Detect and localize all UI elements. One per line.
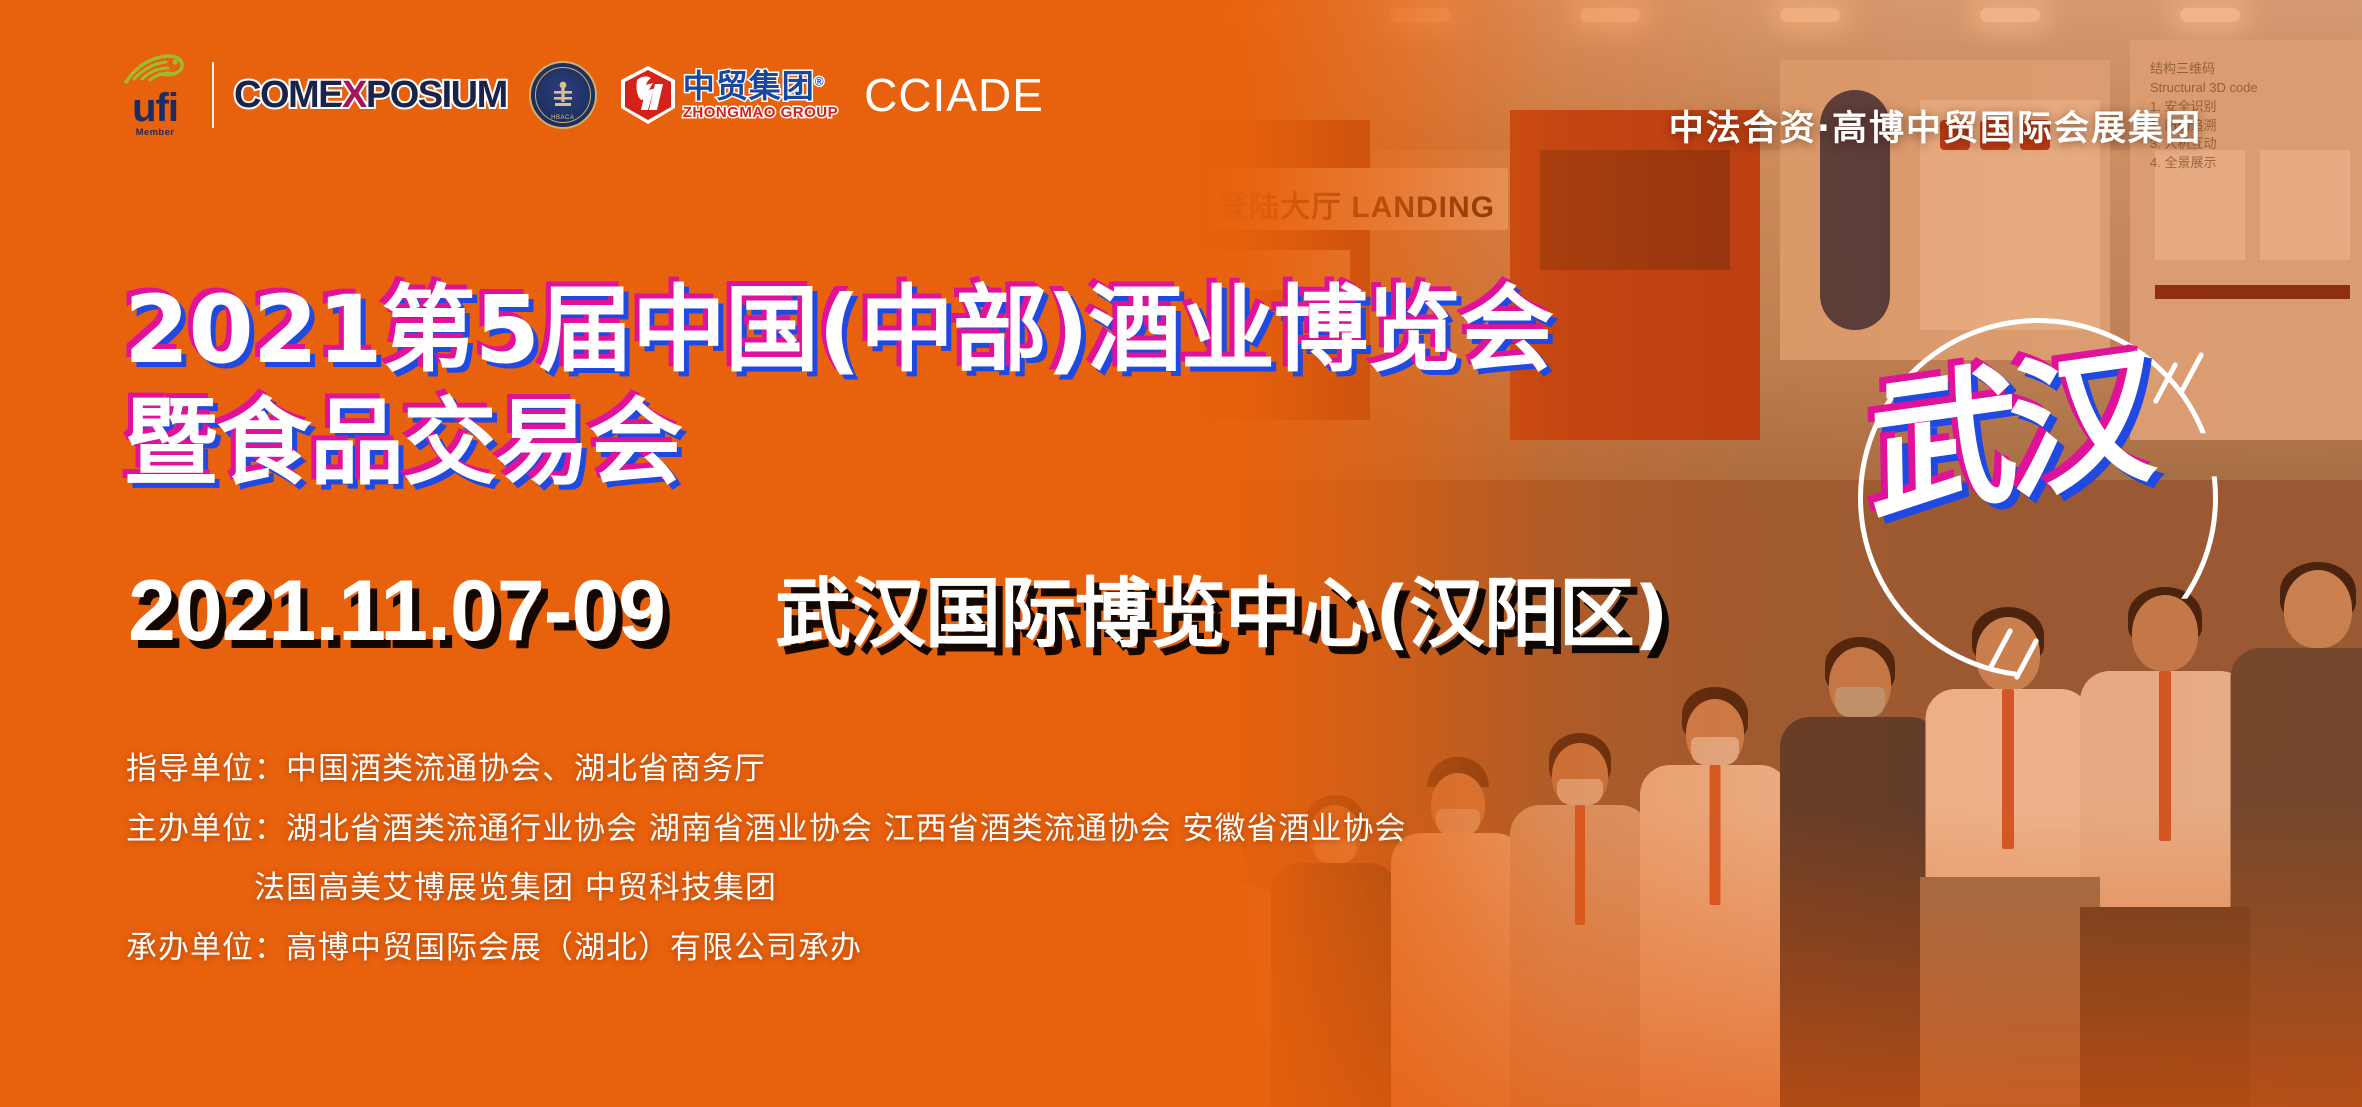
- sponsor-logo-bar: ufi Member COMEXPOSIUM HBACA: [118, 52, 1044, 138]
- event-venue: 武汉国际博览中心(汉阳区): [775, 552, 1667, 662]
- cciade-logo: CCIADE: [864, 68, 1044, 122]
- seal-tick-mark: [2013, 638, 2039, 681]
- host-unit-line-1: 主办单位：湖北省酒类流通行业协会 湖南省酒业协会 江西省酒类流通协会 安徽省酒业…: [126, 800, 1407, 860]
- event-date-venue-row: 2021.11.07-09 武汉国际博览中心(汉阳区): [128, 552, 1667, 662]
- zhongmao-logo: 中贸集团® ZHONGMAO GROUP: [617, 64, 838, 126]
- zhongmao-text: 中贸集团® ZHONGMAO GROUP: [683, 70, 838, 121]
- comexposium-logo: COMEXPOSIUM: [234, 74, 507, 117]
- event-title: 2021第5届中国(中部)酒业博览会 暨食品交易会: [124, 276, 1553, 498]
- zhongmao-name-en: ZHONGMAO GROUP: [683, 104, 838, 121]
- zhongmao-horse-icon: [617, 64, 679, 126]
- comexposium-x: X: [342, 74, 366, 116]
- event-banner: 登陆大厅 LANDING 结构三维码Structural 3D code1. 安…: [0, 0, 2362, 1107]
- guidance-unit-line: 指导单位：中国酒类流通协会、湖北省商务厅: [126, 740, 1407, 800]
- undertaker-unit-line: 承办单位：高博中贸国际会展（湖北）有限公司承办: [126, 919, 1407, 979]
- event-date: 2021.11.07-09: [128, 562, 665, 661]
- hbaca-abbrev: HBACA: [531, 115, 595, 121]
- comexposium-part-3: POSIUM: [366, 74, 507, 116]
- event-title-line-2: 暨食品交易会: [124, 389, 1553, 498]
- company-tagline: 中法合资·高博中贸国际会展集团: [1669, 100, 2202, 151]
- logo-divider: [212, 62, 214, 128]
- zhongmao-name-cn: 中贸集团®: [683, 70, 838, 102]
- ufi-logo: ufi Member: [118, 52, 192, 138]
- host-unit-line-2: 法国高美艾博展览集团 中贸科技集团: [126, 859, 1407, 919]
- hbaca-emblem-icon: [550, 79, 576, 111]
- ufi-member-label: Member: [136, 127, 175, 138]
- ufi-bird-icon: [124, 52, 186, 86]
- wuhan-seal: 武汉: [1858, 318, 2218, 678]
- ufi-wordmark: ufi: [132, 90, 178, 126]
- event-title-line-1: 2021第5届中国(中部)酒业博览会: [124, 276, 1553, 385]
- registered-mark: ®: [815, 74, 825, 88]
- organizer-block: 指导单位：中国酒类流通协会、湖北省商务厅 主办单位：湖北省酒类流通行业协会 湖南…: [126, 740, 1407, 978]
- comexposium-part-1: COME: [234, 74, 342, 116]
- hbaca-logo: HBACA: [529, 61, 597, 129]
